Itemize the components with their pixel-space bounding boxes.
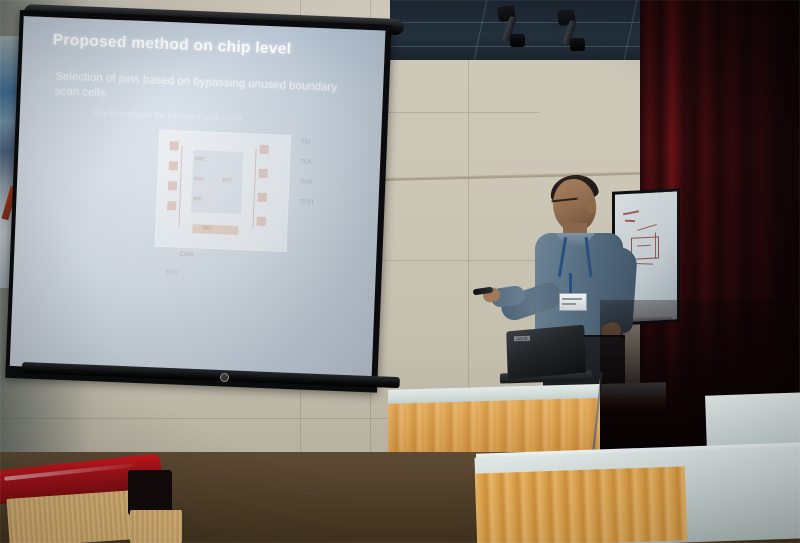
screen-surface: Proposed method on chip level Selection …	[10, 16, 386, 380]
slide-signal-label: TDI	[301, 139, 311, 145]
chair	[128, 470, 188, 543]
laptop-logo: ASUS	[514, 336, 530, 342]
diagram-label: BSC	[194, 176, 205, 182]
screen-frame: Proposed method on chip level Selection …	[5, 10, 391, 393]
diagram-label: BSC	[222, 177, 233, 183]
slide-diagram-footer: TDO	[165, 270, 178, 277]
diagram-label: BSC	[193, 196, 204, 202]
projected-slide: Proposed method on chip level Selection …	[10, 16, 386, 380]
diagram-label: TAP	[202, 225, 212, 231]
slide-signal-label: TRST	[298, 199, 314, 206]
slide-subbullet-text: How to configure the boundary scan chain	[92, 107, 342, 128]
foreground-table-skirt	[475, 466, 687, 543]
projection-screen: Proposed method on chip level Selection …	[8, 2, 398, 392]
diagram-label: BSC	[195, 156, 206, 162]
slide-signal-label: TCK	[300, 159, 312, 165]
slide-title: Proposed method on chip level	[52, 31, 291, 59]
slide-diagram-caption: Core	[179, 251, 193, 259]
slide-bullet-text: Selection of pins based on bypassing unu…	[54, 69, 355, 111]
name-badge	[559, 293, 587, 311]
spotlight-icon	[498, 6, 538, 54]
spotlight-icon	[558, 10, 598, 58]
screen-pull-ring[interactable]	[220, 373, 229, 382]
slide-chip-diagram: BSC BSC BSC BSC TAP	[155, 130, 292, 252]
laptop-lid	[506, 325, 586, 380]
lanyard-strap	[569, 273, 572, 295]
slide-signal-label: TMS	[299, 179, 312, 186]
photograph-scene: Proposed method on chip level Selection …	[0, 0, 800, 543]
ear	[587, 201, 596, 213]
